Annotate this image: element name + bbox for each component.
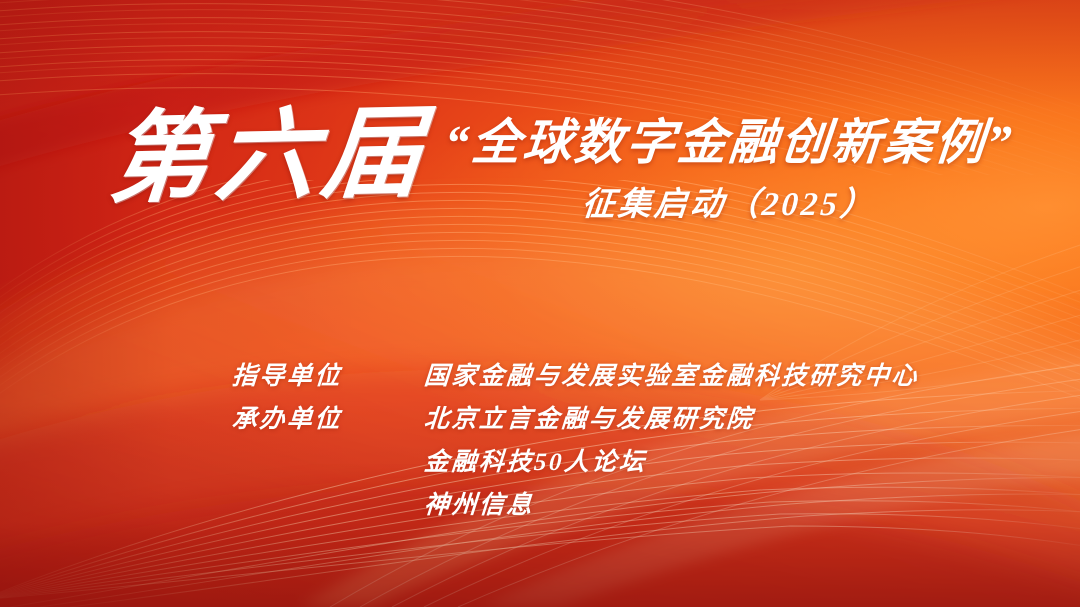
program-name: “全球数字金融创新案例” [422, 118, 1036, 168]
organizer-list: 指导单位 国家金融与发展实验室金融科技研究中心 承办单位 北京立言金融与发展研究… [232, 362, 919, 521]
organizer-value: 国家金融与发展实验室金融科技研究中心 [423, 362, 920, 392]
program-title-block: “全球数字金融创新案例” 征集启动（2025） [424, 118, 1034, 223]
program-subtitle: 征集启动（2025） [422, 188, 1035, 223]
organizer-label: 承办单位 [231, 405, 425, 435]
organizer-value: 北京立言金融与发展研究院 [423, 405, 920, 435]
poster-content: 第六届 “全球数字金融创新案例” 征集启动（2025） 指导单位 国家金融与发展… [0, 0, 1080, 607]
organizer-value: 金融科技50人论坛 [423, 448, 920, 478]
organizer-value: 神州信息 [423, 491, 920, 521]
organizer-label: 指导单位 [231, 362, 425, 392]
poster-canvas: 第六届 “全球数字金融创新案例” 征集启动（2025） 指导单位 国家金融与发展… [0, 0, 1080, 607]
page-title: 第六届 [105, 104, 432, 211]
